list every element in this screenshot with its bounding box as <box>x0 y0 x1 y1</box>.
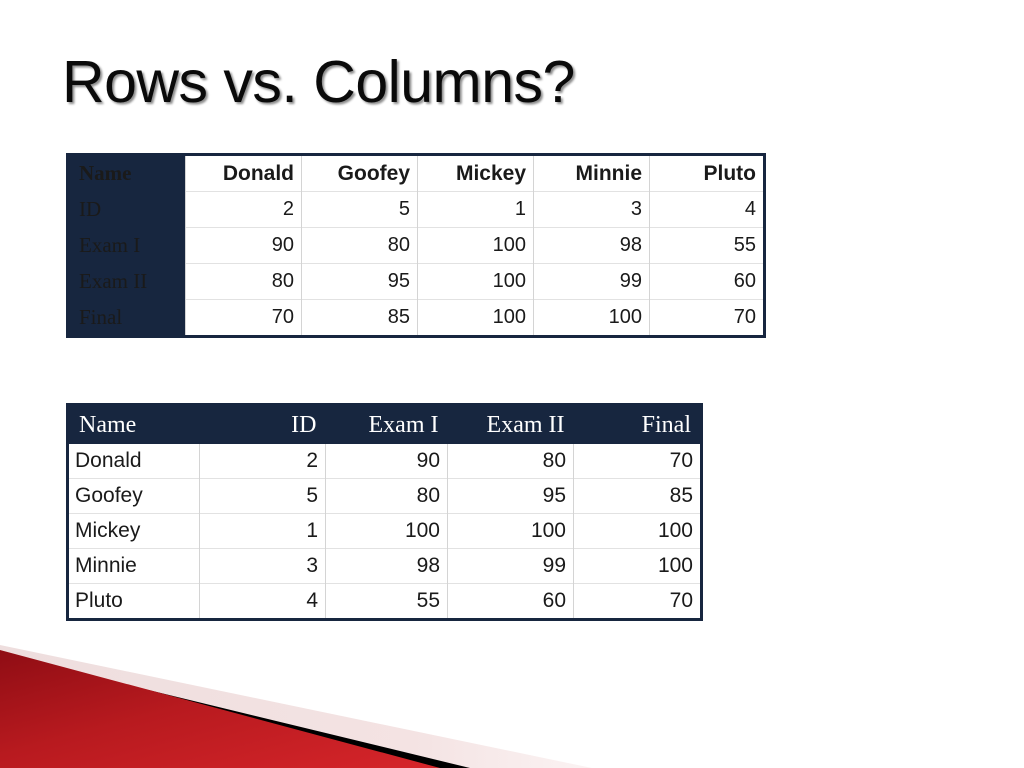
corner-ribbon-graphic <box>0 628 620 768</box>
table-cell: 80 <box>186 264 302 300</box>
table-cell: 2 <box>186 192 302 228</box>
column-name-cell: Goofey <box>302 155 418 192</box>
table-cell: 99 <box>448 549 574 584</box>
student-name-cell: Donald <box>68 444 200 479</box>
row-header-label: ID <box>68 192 186 228</box>
table-cell: 70 <box>650 300 765 337</box>
table-cell: 55 <box>326 584 448 620</box>
table-cell: 100 <box>574 549 702 584</box>
student-name-cell: Goofey <box>68 479 200 514</box>
table-cell: 60 <box>650 264 765 300</box>
table-cell: 80 <box>448 444 574 479</box>
table-row: Exam I90801009855 <box>68 228 765 264</box>
table-cell: 4 <box>650 192 765 228</box>
table-cell: 5 <box>302 192 418 228</box>
table-cell: 1 <box>418 192 534 228</box>
table-cell: 100 <box>448 514 574 549</box>
column-name-cell: Mickey <box>418 155 534 192</box>
table-cell: 80 <box>326 479 448 514</box>
table-row: Exam II80951009960 <box>68 264 765 300</box>
table-cell: 90 <box>326 444 448 479</box>
table-cell: 85 <box>574 479 702 514</box>
table-cell: 70 <box>574 444 702 479</box>
table-cell: 60 <box>448 584 574 620</box>
row-header-label: Name <box>68 155 186 192</box>
column-header-id: ID <box>200 405 326 445</box>
table-row: Minnie39899100 <box>68 549 702 584</box>
red-triangle-shape <box>0 650 440 768</box>
column-name-cell: Minnie <box>534 155 650 192</box>
table-cell: 4 <box>200 584 326 620</box>
table-cell: 3 <box>200 549 326 584</box>
record-table-head: NameIDExam IExam IIFinal <box>68 405 702 445</box>
table-cell: 85 <box>302 300 418 337</box>
student-name-cell: Minnie <box>68 549 200 584</box>
student-name-cell: Mickey <box>68 514 200 549</box>
table-cell: 100 <box>326 514 448 549</box>
table-cell: 1 <box>200 514 326 549</box>
column-header-exam-i: Exam I <box>326 405 448 445</box>
table-cell: 100 <box>418 264 534 300</box>
table-cell: 80 <box>302 228 418 264</box>
column-header-exam-ii: Exam II <box>448 405 574 445</box>
table-cell: 5 <box>200 479 326 514</box>
table-cell: 98 <box>326 549 448 584</box>
table-row: Donald2908070 <box>68 444 702 479</box>
slide-canvas: Rows vs. Columns? NameDonaldGoofeyMickey… <box>0 0 1024 768</box>
table-row: ID25134 <box>68 192 765 228</box>
table-cell: 95 <box>448 479 574 514</box>
table-row: Final708510010070 <box>68 300 765 337</box>
transposed-table-body: NameDonaldGoofeyMickeyMinniePlutoID25134… <box>68 155 765 337</box>
table-cell: 100 <box>574 514 702 549</box>
table-cell: 99 <box>534 264 650 300</box>
black-stripe-shape <box>0 654 470 768</box>
student-name-cell: Pluto <box>68 584 200 620</box>
column-name-cell: Pluto <box>650 155 765 192</box>
table-cell: 95 <box>302 264 418 300</box>
page-title: Rows vs. Columns? <box>62 52 575 114</box>
table-cell: 98 <box>534 228 650 264</box>
table-cell: 2 <box>200 444 326 479</box>
table-cell: 100 <box>418 300 534 337</box>
column-header-name: Name <box>68 405 200 445</box>
row-header-label: Final <box>68 300 186 337</box>
record-table-header-row: NameIDExam IExam IIFinal <box>68 405 702 445</box>
table-cell: 90 <box>186 228 302 264</box>
table-cell: 100 <box>418 228 534 264</box>
table-cell: 3 <box>534 192 650 228</box>
row-header-label: Exam I <box>68 228 186 264</box>
row-header-label: Exam II <box>68 264 186 300</box>
column-header-final: Final <box>574 405 702 445</box>
table-row: Pluto4556070 <box>68 584 702 620</box>
column-name-cell: Donald <box>186 155 302 192</box>
table-cell: 55 <box>650 228 765 264</box>
record-table-body: Donald2908070Goofey5809585Mickey11001001… <box>68 444 702 620</box>
table-row: Mickey1100100100 <box>68 514 702 549</box>
blush-wedge-shape <box>0 645 592 768</box>
table-row: Goofey5809585 <box>68 479 702 514</box>
transposed-table: NameDonaldGoofeyMickeyMinniePlutoID25134… <box>66 153 766 338</box>
table-cell: 70 <box>574 584 702 620</box>
table-cell: 100 <box>534 300 650 337</box>
table-row: NameDonaldGoofeyMickeyMinniePluto <box>68 155 765 192</box>
record-table: NameIDExam IExam IIFinal Donald2908070Go… <box>66 403 703 621</box>
table-cell: 70 <box>186 300 302 337</box>
